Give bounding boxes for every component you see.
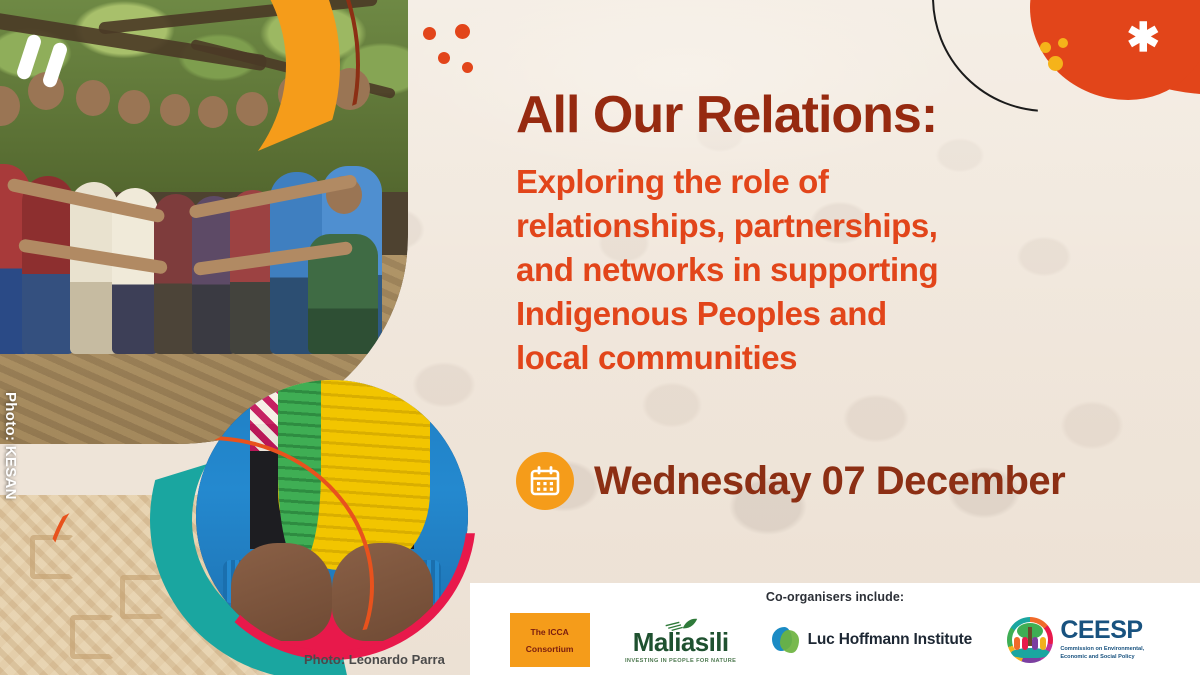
maliasili-logo[interactable]: Maliasili INVESTING IN PEOPLE FOR NATURE <box>625 617 736 664</box>
co-organisers-footer: Co-organisers include: The ICCA Consorti… <box>470 583 1200 675</box>
icca-line-2: Consortium <box>526 644 574 654</box>
subtitle-line: relationships, partnerships, <box>516 204 1176 248</box>
ceesp-emblem-icon <box>1007 617 1053 663</box>
photo-credit-kesan: Photo: KESAN <box>2 392 19 500</box>
luc-hoffmann-institute-logo[interactable]: Luc Hoffmann Institute <box>772 626 972 654</box>
quote-mark-icon <box>18 26 88 86</box>
page-title: All Our Relations: <box>516 88 1176 142</box>
decor-dot-yellow <box>1040 42 1051 53</box>
decor-dot-yellow <box>1048 56 1063 71</box>
banner-subtitle: Exploring the role of relationships, par… <box>516 160 1176 379</box>
subtitle-line: Exploring the role of <box>516 160 1176 204</box>
ceesp-logo[interactable]: CEESP Commission on Environmental, Econo… <box>1007 617 1160 663</box>
event-date: Wednesday 07 December <box>594 459 1065 504</box>
asterisk-icon: ✱ <box>1126 18 1160 58</box>
event-banner: ✱ <box>0 0 1200 675</box>
luc-hoffmann-leaf-icon <box>772 626 800 654</box>
calendar-icon <box>516 452 574 510</box>
icca-consortium-logo[interactable]: The ICCA Consortium <box>510 613 590 667</box>
decor-dot-yellow <box>1058 38 1068 48</box>
co-organisers-label: Co-organisers include: <box>470 590 1200 604</box>
left-photo-column: Photo: KESAN <box>0 0 470 675</box>
subtitle-line: local communities <box>516 336 1176 380</box>
maliasili-wordmark: Maliasili <box>633 629 729 655</box>
photo-credit-leonardo-parra: Photo: Leonardo Parra <box>304 652 445 667</box>
maliasili-tagline: INVESTING IN PEOPLE FOR NATURE <box>625 658 736 664</box>
ceesp-tagline: Commission on Environmental, Economic an… <box>1060 646 1160 661</box>
banner-text-block: All Our Relations: Exploring the role of… <box>516 88 1176 379</box>
ceesp-acronym: CEESP <box>1060 618 1160 643</box>
subtitle-line: Indigenous Peoples and <box>516 292 1176 336</box>
icca-line-1: The ICCA <box>531 627 569 637</box>
luc-hoffmann-wordmark: Luc Hoffmann Institute <box>808 631 972 649</box>
logo-strip: The ICCA Consortium Maliasili INVESTING … <box>470 609 1200 671</box>
event-date-row: Wednesday 07 December <box>516 452 1065 510</box>
subtitle-line: and networks in supporting <box>516 248 1176 292</box>
